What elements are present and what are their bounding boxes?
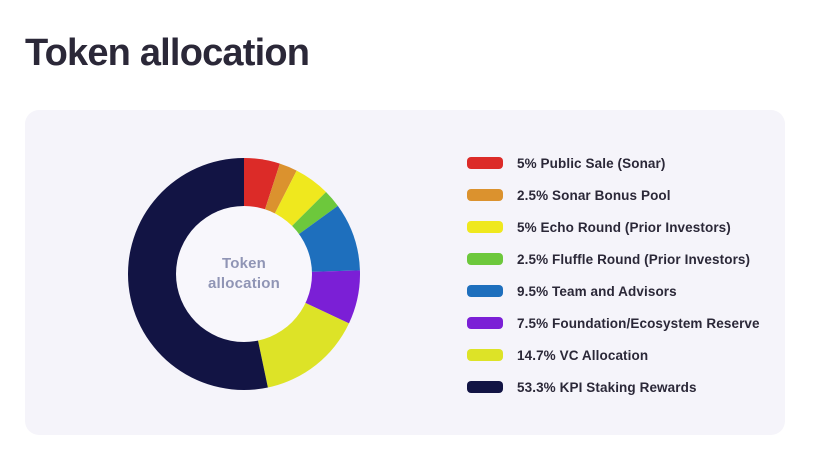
- legend-swatch: [467, 157, 503, 169]
- legend-label: 9.5% Team and Advisors: [517, 284, 677, 299]
- legend-swatch: [467, 317, 503, 329]
- legend-label: 14.7% VC Allocation: [517, 348, 648, 363]
- legend-label: 5% Public Sale (Sonar): [517, 156, 666, 171]
- legend-swatch: [467, 349, 503, 361]
- legend-swatch: [467, 253, 503, 265]
- legend-item[interactable]: 9.5% Team and Advisors: [467, 275, 777, 307]
- donut-chart-svg: [128, 158, 360, 390]
- legend-label: 5% Echo Round (Prior Investors): [517, 220, 731, 235]
- legend-item[interactable]: 7.5% Foundation/Ecosystem Reserve: [467, 307, 777, 339]
- legend-swatch: [467, 381, 503, 393]
- legend-item[interactable]: 14.7% VC Allocation: [467, 339, 777, 371]
- token-allocation-card: Token allocation 5% Public Sale (Sonar)2…: [25, 110, 785, 435]
- legend-swatch: [467, 189, 503, 201]
- legend-swatch: [467, 285, 503, 297]
- legend-item[interactable]: 5% Public Sale (Sonar): [467, 147, 777, 179]
- donut-hole: [176, 206, 312, 342]
- legend-item[interactable]: 53.3% KPI Staking Rewards: [467, 371, 777, 403]
- legend-label: 2.5% Sonar Bonus Pool: [517, 188, 671, 203]
- legend-label: 7.5% Foundation/Ecosystem Reserve: [517, 316, 760, 331]
- page-title: Token allocation: [25, 29, 309, 77]
- legend-item[interactable]: 5% Echo Round (Prior Investors): [467, 211, 777, 243]
- legend-item[interactable]: 2.5% Fluffle Round (Prior Investors): [467, 243, 777, 275]
- donut-chart: Token allocation: [128, 158, 360, 390]
- chart-legend: 5% Public Sale (Sonar)2.5% Sonar Bonus P…: [467, 147, 777, 403]
- legend-label: 53.3% KPI Staking Rewards: [517, 380, 697, 395]
- legend-label: 2.5% Fluffle Round (Prior Investors): [517, 252, 750, 267]
- legend-item[interactable]: 2.5% Sonar Bonus Pool: [467, 179, 777, 211]
- legend-swatch: [467, 221, 503, 233]
